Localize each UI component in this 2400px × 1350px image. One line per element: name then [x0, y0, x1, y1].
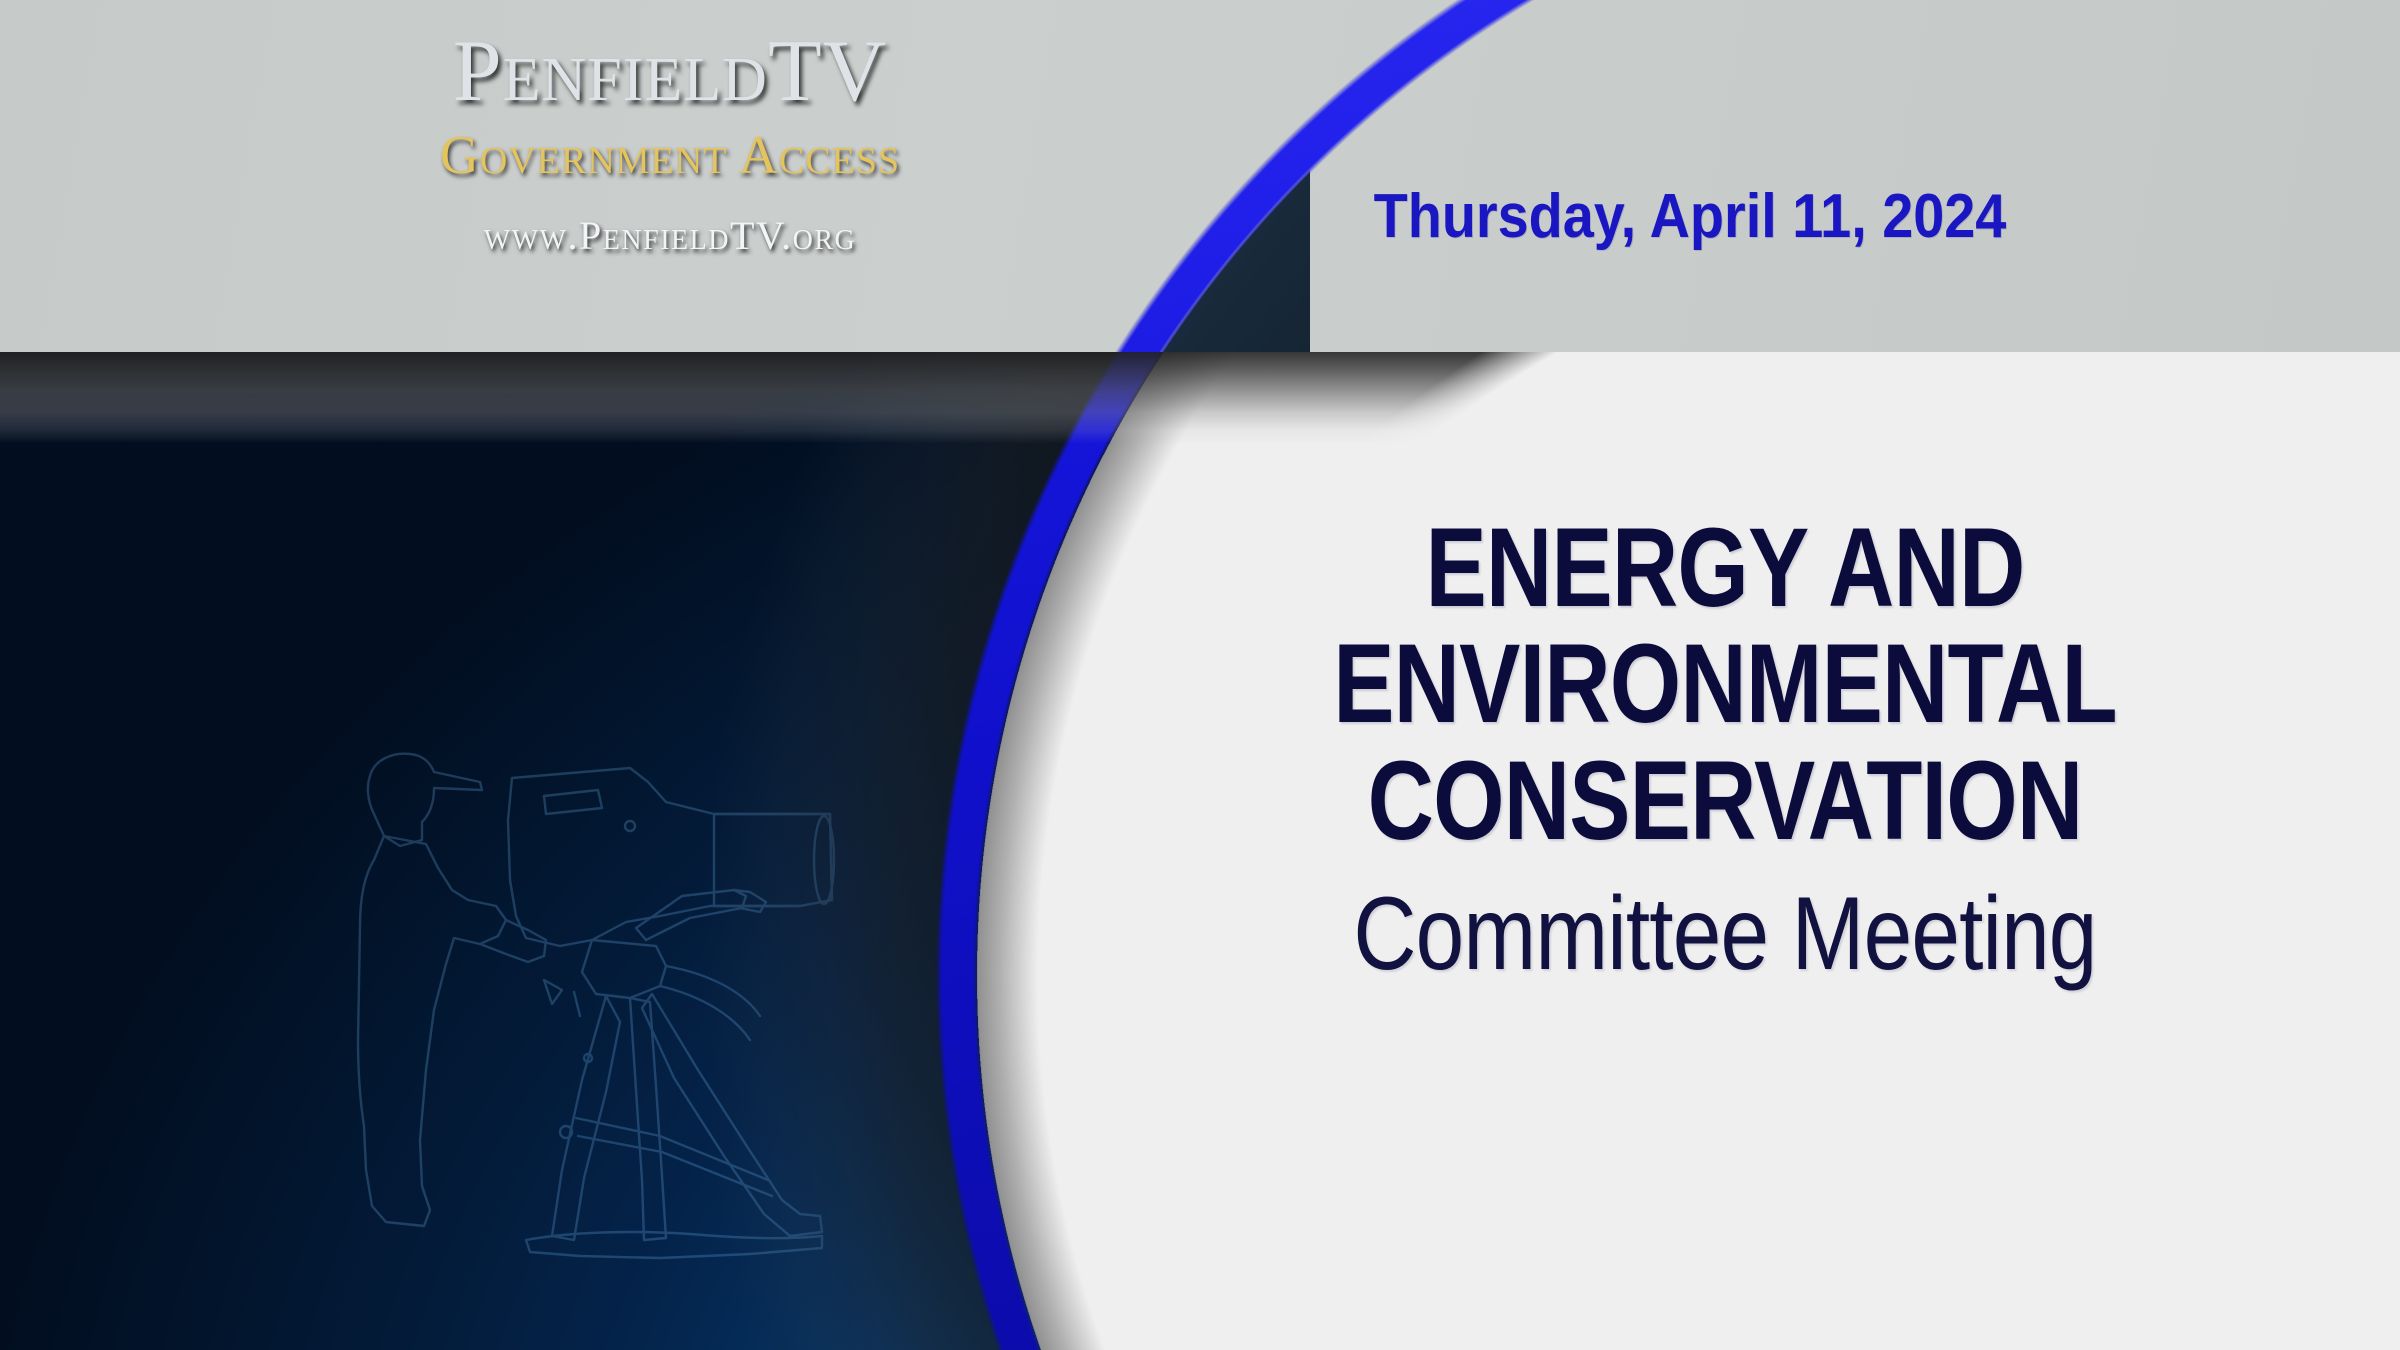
title-line-2: ENVIRONMENTAL: [1172, 626, 2279, 742]
camera-operator-icon: [330, 740, 890, 1280]
station-name: PenfieldTV: [330, 28, 1010, 116]
title-line-3: CONSERVATION: [1172, 743, 2279, 859]
station-website: www.PenfieldTV.org: [330, 216, 1010, 256]
title-line-1: ENERGY AND: [1172, 510, 2279, 626]
station-logo: PenfieldTV Government Access www.Penfiel…: [330, 28, 1010, 256]
meeting-title-block: ENERGY AND ENVIRONMENTAL CONSERVATION Co…: [1050, 510, 2400, 999]
meeting-subtitle: Committee Meeting: [1158, 869, 2292, 999]
station-tagline: Government Access: [330, 128, 1010, 182]
meeting-date: Thursday, April 11, 2024: [1366, 181, 2014, 252]
title-card: PenfieldTV Government Access www.Penfiel…: [0, 0, 2400, 1350]
